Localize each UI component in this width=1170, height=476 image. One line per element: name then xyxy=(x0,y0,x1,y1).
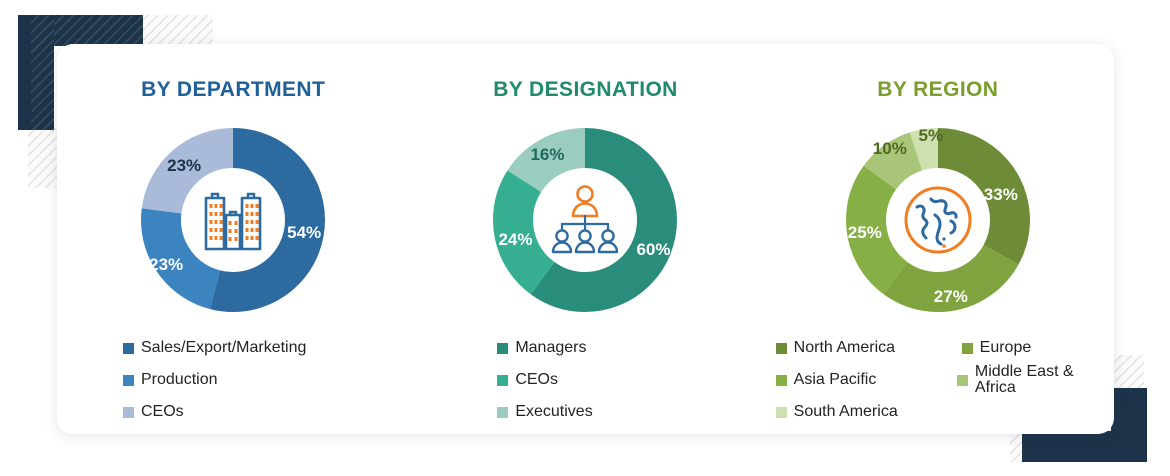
legend-label: South America xyxy=(794,404,898,420)
legend-swatch-icon xyxy=(962,343,973,354)
chart-panels: BY DEPARTMENT xyxy=(57,44,1114,434)
legend-item-executives[interactable]: Executives xyxy=(497,404,592,420)
legend-label: Executives xyxy=(515,404,592,420)
corner-accent-top-left-solid-edge xyxy=(18,15,31,130)
donut-chart-by-region: 33% 27% 25% 10% 5% xyxy=(838,120,1038,320)
legend-swatch-icon xyxy=(497,343,508,354)
legend-by-department: Sales/Export/Marketing Production CEOs xyxy=(123,332,306,428)
org-chart-icon xyxy=(542,177,628,263)
legend-swatch-icon xyxy=(776,375,787,386)
legend-swatch-icon xyxy=(123,343,134,354)
legend-item-sales-export-marketing[interactable]: Sales/Export/Marketing xyxy=(123,340,306,356)
legend-item-north-america[interactable]: North America xyxy=(776,340,962,356)
panel-by-region: BY REGION xyxy=(762,44,1114,434)
legend-swatch-icon xyxy=(497,375,508,386)
panel-title-by-designation: BY DESIGNATION xyxy=(409,78,761,102)
legend-row: Managers xyxy=(497,332,592,364)
legend-label: North America xyxy=(794,340,895,356)
legend-swatch-icon xyxy=(497,407,508,418)
globe-icon xyxy=(895,177,981,263)
panel-by-department: BY DEPARTMENT xyxy=(57,44,409,434)
legend-swatch-icon xyxy=(123,407,134,418)
legend-label: CEOs xyxy=(141,404,184,420)
legend-item-middle-east-africa[interactable]: Middle East & Africa xyxy=(957,364,1114,396)
legend-item-managers[interactable]: Managers xyxy=(497,340,586,356)
legend-label: Europe xyxy=(980,340,1032,356)
corner-accent-bottom-right-vertical xyxy=(1111,388,1147,462)
legend-by-region: North America Europe Asia Pacific xyxy=(776,332,1114,428)
legend-label: Middle East & Africa xyxy=(975,364,1114,396)
donut-wrap-by-region: 33% 27% 25% 10% 5% xyxy=(762,120,1114,320)
chart-card: BY DEPARTMENT xyxy=(57,44,1114,434)
legend-item-ceos[interactable]: CEOs xyxy=(497,372,558,388)
legend-item-south-america[interactable]: South America xyxy=(776,404,962,420)
donut-chart-by-designation: 60% 24% 16% xyxy=(485,120,685,320)
legend-swatch-icon xyxy=(123,375,134,386)
legend-row: Asia Pacific Middle East & Africa xyxy=(776,364,1114,396)
legend-label: Asia Pacific xyxy=(794,372,877,388)
legend-item-ceos[interactable]: CEOs xyxy=(123,404,184,420)
donut-chart-by-department: 54% 23% 23% xyxy=(133,120,333,320)
legend-row: Production xyxy=(123,364,306,396)
legend-label: CEOs xyxy=(515,372,558,388)
legend-row: North America Europe xyxy=(776,332,1114,364)
panel-by-designation: BY DESIGNATION xyxy=(409,44,761,434)
donut-wrap-by-designation: 60% 24% 16% xyxy=(409,120,761,320)
legend-row: CEOs xyxy=(497,364,592,396)
legend-label: Production xyxy=(141,372,218,388)
panel-title-by-department: BY DEPARTMENT xyxy=(57,78,409,102)
panel-title-by-region: BY REGION xyxy=(762,78,1114,102)
legend-item-asia-pacific[interactable]: Asia Pacific xyxy=(776,372,957,388)
legend-swatch-icon xyxy=(957,375,968,386)
legend-item-europe[interactable]: Europe xyxy=(962,340,1032,356)
legend-row: Executives xyxy=(497,396,592,428)
legend-row: CEOs xyxy=(123,396,306,428)
legend-item-production[interactable]: Production xyxy=(123,372,218,388)
office-buildings-icon xyxy=(190,177,276,263)
legend-label: Managers xyxy=(515,340,586,356)
legend-swatch-icon xyxy=(776,407,787,418)
legend-row: South America xyxy=(776,396,1114,428)
infographic-canvas: BY DEPARTMENT xyxy=(0,0,1170,476)
legend-row: Sales/Export/Marketing xyxy=(123,332,306,364)
legend-label: Sales/Export/Marketing xyxy=(141,340,306,356)
donut-wrap-by-department: 54% 23% 23% xyxy=(57,120,409,320)
legend-swatch-icon xyxy=(776,343,787,354)
legend-by-designation: Managers CEOs Executives xyxy=(497,332,592,428)
